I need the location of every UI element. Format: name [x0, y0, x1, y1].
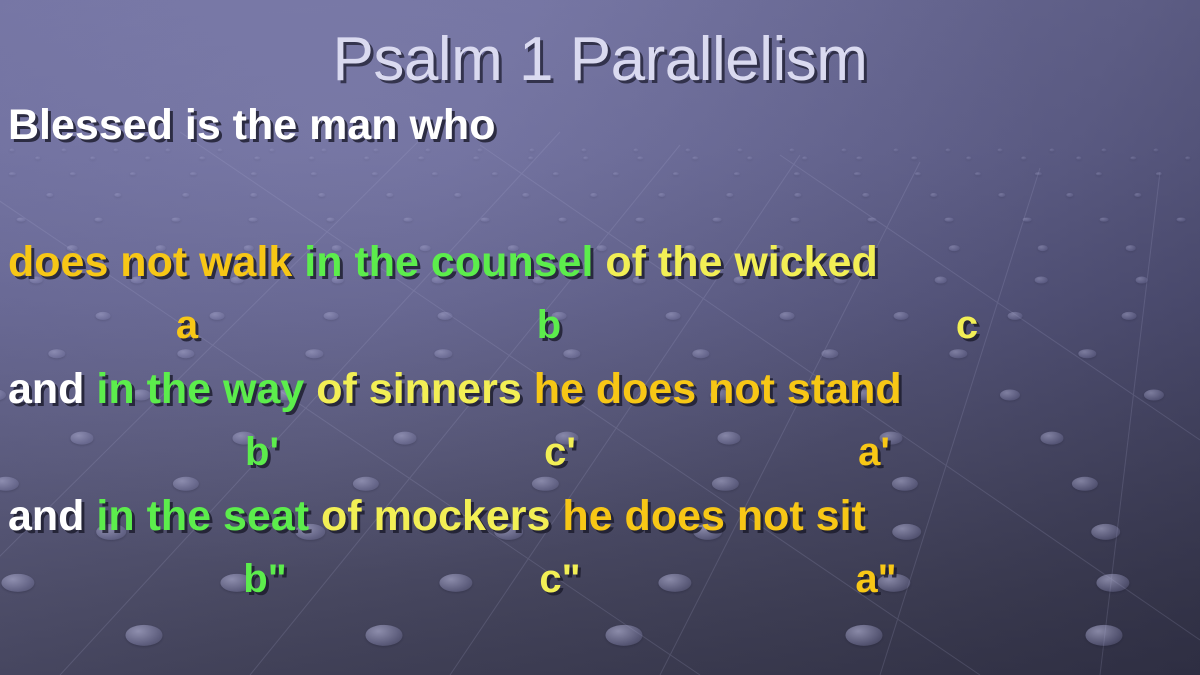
verse-segment-orange: he does not sit [562, 492, 865, 540]
verse-segment-white [522, 365, 534, 413]
verse-line-2: and in the way of sinners he does not st… [8, 365, 902, 414]
verse-segment-orange: he does not stand [534, 365, 902, 413]
verse-segment-orange: does not walk [8, 238, 292, 286]
parallelism-label: a [176, 303, 198, 348]
verse-line-3: and in the seat of mockers he does not s… [8, 492, 866, 541]
page-title: Psalm 1 Parallelism [0, 24, 1200, 95]
label-row-line-2: b'c'a' [0, 430, 1200, 480]
label-row-line-1: abc [0, 303, 1200, 353]
slide-canvas: Psalm 1 Parallelism Blessed is the man w… [0, 0, 1200, 675]
verse-segment-white [593, 238, 605, 286]
verse-segment-green: in the counsel [304, 238, 593, 286]
verse-segment-white [84, 365, 96, 413]
verse-segment-yellow: of the wicked [605, 238, 877, 286]
subtitle-text: Blessed is the man who [8, 101, 495, 150]
parallelism-label: c' [544, 430, 576, 475]
label-row-line-3: b"c"a" [0, 557, 1200, 607]
verse-segment-white [309, 492, 321, 540]
verse-segment-green: in the seat [96, 492, 309, 540]
verse-line-1: does not walk in the counsel of the wick… [8, 238, 878, 287]
parallelism-label: b [537, 303, 561, 348]
verse-segment-yellow: of sinners [316, 365, 522, 413]
parallelism-label: c" [539, 557, 580, 602]
verse-segment-white [304, 365, 316, 413]
verse-segment-yellow: of mockers [321, 492, 550, 540]
parallelism-label: a' [858, 430, 890, 475]
parallelism-label: b' [245, 430, 279, 475]
parallelism-label: c [956, 303, 978, 348]
verse-segment-white [84, 492, 96, 540]
verse-segment-green: in the way [96, 365, 304, 413]
verse-segment-white [550, 492, 562, 540]
parallelism-label: b" [243, 557, 286, 602]
slide-content: Psalm 1 Parallelism Blessed is the man w… [0, 0, 1200, 675]
verse-segment-white: and [8, 365, 84, 413]
verse-segment-white: and [8, 492, 84, 540]
parallelism-label: a" [855, 557, 896, 602]
verse-segment-white [292, 238, 304, 286]
